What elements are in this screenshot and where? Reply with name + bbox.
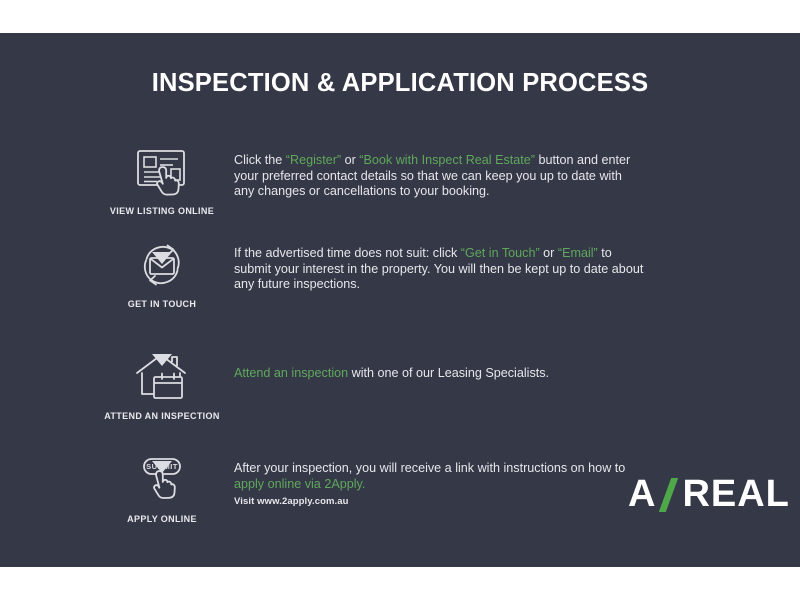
step-3-text-part-0: Attend an inspection bbox=[234, 366, 348, 380]
step-4-icon-column: SUBMIT APPLY ONLINE bbox=[88, 451, 236, 524]
step-2-icon-column: GET IN TOUCH bbox=[88, 236, 236, 309]
step-1-text-part-2: or bbox=[341, 153, 359, 167]
envelope-refresh-icon bbox=[88, 236, 236, 294]
step-1-text-part-3: “Book with Inspect Real Estate” bbox=[359, 153, 535, 167]
step-3-text-part-1: with one of our Leasing Specialists. bbox=[348, 366, 549, 380]
step-4-text-part-1: apply online via 2Apply. bbox=[234, 477, 365, 491]
step-4-label: APPLY ONLINE bbox=[88, 514, 236, 524]
step-1-text-part-0: Click the bbox=[234, 153, 286, 167]
logo-right-text: REAL bbox=[682, 473, 789, 516]
step-1-text-part-1: “Register” bbox=[286, 153, 341, 167]
step-3-icon-column: ATTEND AN INSPECTION bbox=[88, 348, 236, 421]
step-2-label: GET IN TOUCH bbox=[88, 299, 236, 309]
listing-page-click-icon bbox=[88, 143, 236, 201]
step-2-text-part-1: “Get in Touch” bbox=[461, 246, 540, 260]
step-2-text-part-2: or bbox=[540, 246, 558, 260]
step-2-description: If the advertised time does not suit: cl… bbox=[234, 246, 644, 293]
step-2-text-part-3: “Email” bbox=[558, 246, 598, 260]
brand-logo: A REAL bbox=[628, 473, 790, 516]
step-1-icon-column: VIEW LISTING ONLINE bbox=[88, 143, 236, 216]
step-2-text-part-0: If the advertised time does not suit: cl… bbox=[234, 246, 461, 260]
step-4-description: After your inspection, you will receive … bbox=[234, 461, 644, 492]
step-1-description: Click the “Register” or “Book with Inspe… bbox=[234, 153, 644, 200]
house-calendar-icon bbox=[88, 348, 236, 406]
step-4-text-part-0: After your inspection, you will receive … bbox=[234, 461, 625, 475]
step-3-description: Attend an inspection with one of our Lea… bbox=[234, 366, 644, 382]
step-3-label: ATTEND AN INSPECTION bbox=[88, 411, 236, 421]
logo-slash-icon bbox=[661, 478, 679, 512]
submit-button-click-icon: SUBMIT bbox=[88, 451, 236, 509]
submit-icon-text: SUBMIT bbox=[146, 462, 178, 471]
page-title: INSPECTION & APPLICATION PROCESS bbox=[0, 69, 800, 98]
logo-left-text: A bbox=[628, 473, 656, 516]
step-1-label: VIEW LISTING ONLINE bbox=[88, 206, 236, 216]
visit-url-line: Visit www.2apply.com.au bbox=[234, 496, 349, 507]
slide-canvas: INSPECTION & APPLICATION PROCESS VIEW LI… bbox=[0, 33, 800, 567]
